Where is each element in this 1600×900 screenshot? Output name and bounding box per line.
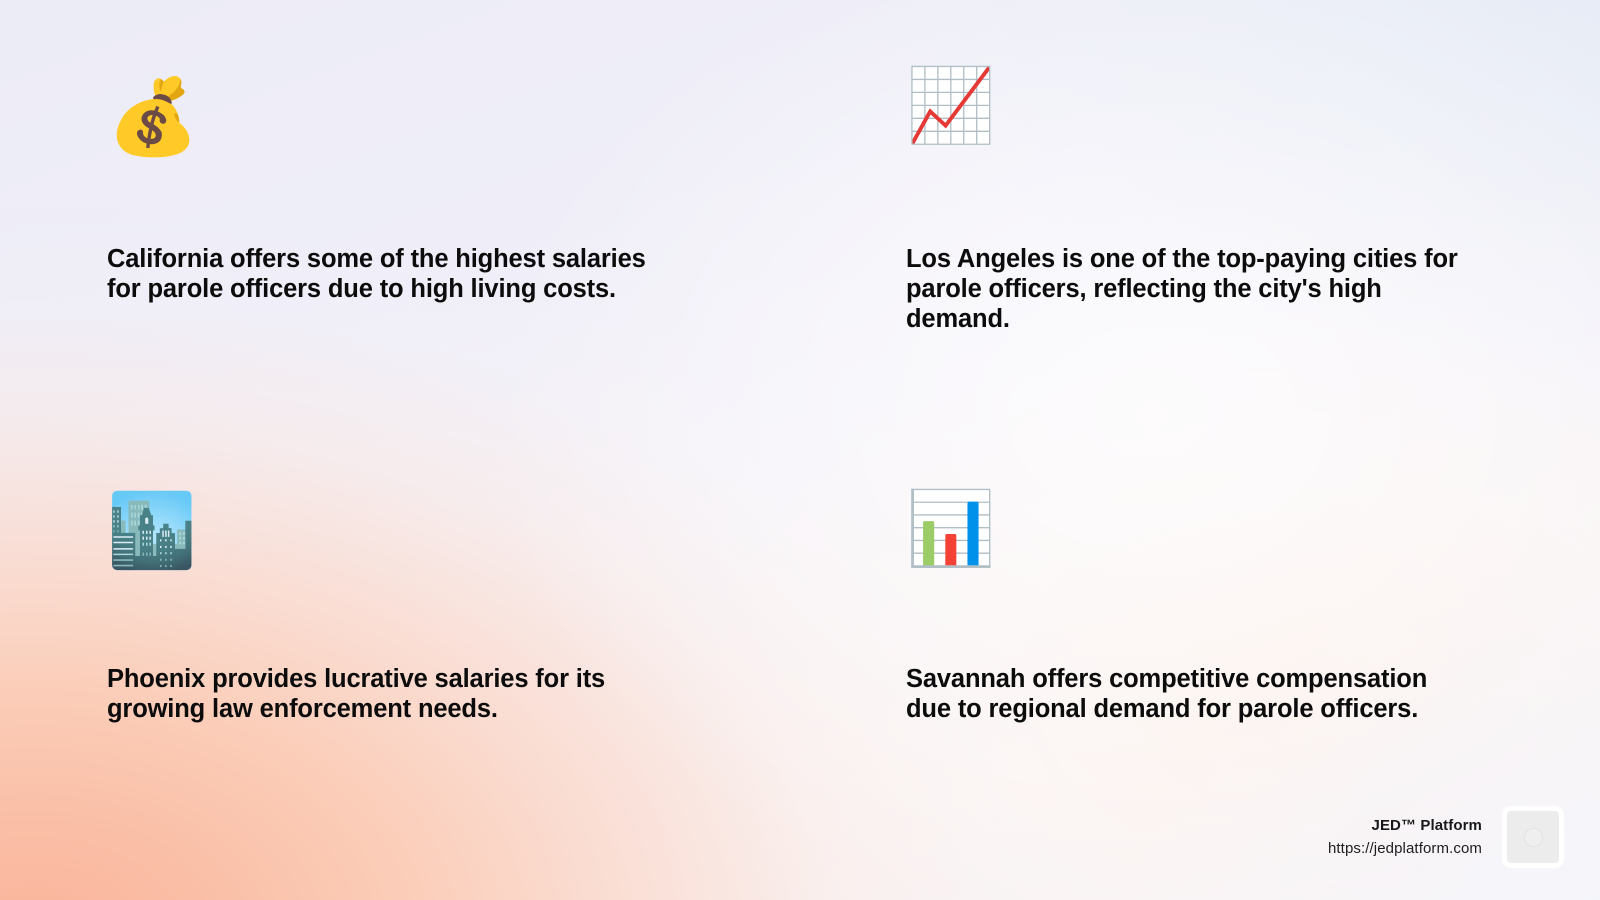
money-bag-icon: 💰	[107, 80, 667, 162]
card-los-angeles: 📈 Los Angeles is one of the top-paying c…	[906, 70, 1466, 152]
footer-text-block: JED™ Platform https://jedplatform.com	[1328, 814, 1482, 861]
card-phoenix-text: Phoenix provides lucrative salaries for …	[107, 664, 659, 724]
logo-mark-icon	[1524, 828, 1543, 847]
jed-platform-logo	[1502, 806, 1564, 868]
card-phoenix: 🏙️ Phoenix provides lucrative salaries f…	[107, 495, 667, 577]
card-savannah-text: Savannah offers competitive compensation…	[906, 664, 1462, 724]
chart-increasing-icon: 📈	[906, 70, 1466, 152]
card-california-text: California offers some of the highest sa…	[107, 244, 653, 304]
footer-brand-name: JED™ Platform	[1328, 814, 1482, 837]
card-los-angeles-text: Los Angeles is one of the top-paying cit…	[906, 244, 1458, 334]
footer-branding: JED™ Platform https://jedplatform.com	[1328, 806, 1564, 868]
bar-chart-icon: 📊	[906, 493, 1466, 575]
cityscape-icon: 🏙️	[107, 495, 667, 577]
infographic-canvas: 💰 California offers some of the highest …	[0, 0, 1600, 900]
footer-website-url[interactable]: https://jedplatform.com	[1328, 837, 1482, 860]
card-savannah: 📊 Savannah offers competitive compensati…	[906, 493, 1466, 575]
card-california: 💰 California offers some of the highest …	[107, 80, 667, 162]
cards-grid: 💰 California offers some of the highest …	[0, 0, 1600, 900]
